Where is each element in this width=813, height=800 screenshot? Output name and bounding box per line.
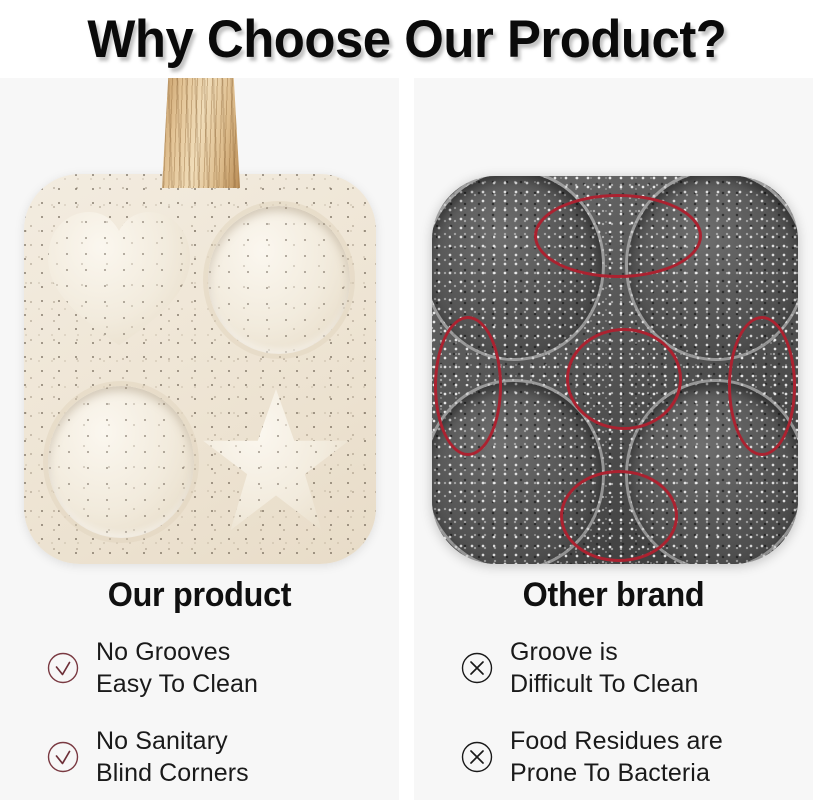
our-product-image: [0, 78, 399, 578]
other-brand-point-list: Groove is Difficult To Clean Food Residu…: [460, 636, 813, 790]
list-item: No Sanitary Blind Corners: [46, 725, 399, 790]
annotation-ellipse-right-groove: [728, 316, 796, 456]
panel-divider: [399, 78, 414, 800]
check-circle-icon: [46, 651, 80, 685]
list-item-label: Groove is Difficult To Clean: [510, 636, 698, 701]
other-brand-image: [414, 78, 813, 578]
cream-pan-body: [24, 174, 376, 564]
granite-pan-body: [432, 176, 798, 564]
annotation-ellipse-top-groove: [534, 194, 702, 278]
mold-heart: [46, 204, 192, 346]
mold-circle-top-right: [208, 206, 350, 354]
annotation-ellipse-left-groove: [434, 316, 502, 456]
mold-star: [200, 386, 352, 538]
other-brand-comparison: Other brand Groove is Difficult To Clean: [414, 578, 813, 800]
mold-circle-bottom-left: [48, 386, 194, 538]
list-item-label: No Sanitary Blind Corners: [96, 725, 249, 790]
panel-other-brand: Other brand Groove is Difficult To Clean: [414, 78, 813, 800]
our-product-comparison: Our product No Grooves Easy To Clean: [0, 578, 399, 800]
other-brand-heading: Other brand: [424, 578, 803, 614]
annotation-ellipse-bottom-groove: [560, 470, 678, 562]
cross-circle-icon: [460, 740, 494, 774]
page-title: Why Choose Our Product?: [87, 9, 726, 70]
list-item: No Grooves Easy To Clean: [46, 636, 399, 701]
our-product-point-list: No Grooves Easy To Clean No Sanitary Bli…: [46, 636, 399, 790]
list-item-label: No Grooves Easy To Clean: [96, 636, 258, 701]
list-item-label: Food Residues are Prone To Bacteria: [510, 725, 723, 790]
list-item: Groove is Difficult To Clean: [460, 636, 813, 701]
check-circle-icon: [46, 740, 80, 774]
comparison-panels: Our product No Grooves Easy To Clean: [0, 78, 813, 800]
title-bar: Why Choose Our Product?: [0, 0, 813, 78]
list-item: Food Residues are Prone To Bacteria: [460, 725, 813, 790]
pan-handle-wood: [162, 78, 240, 188]
cross-circle-icon: [460, 651, 494, 685]
our-product-heading: Our product: [10, 578, 389, 614]
annotation-ellipse-center-groove: [566, 328, 682, 430]
panel-our-product: Our product No Grooves Easy To Clean: [0, 78, 399, 800]
